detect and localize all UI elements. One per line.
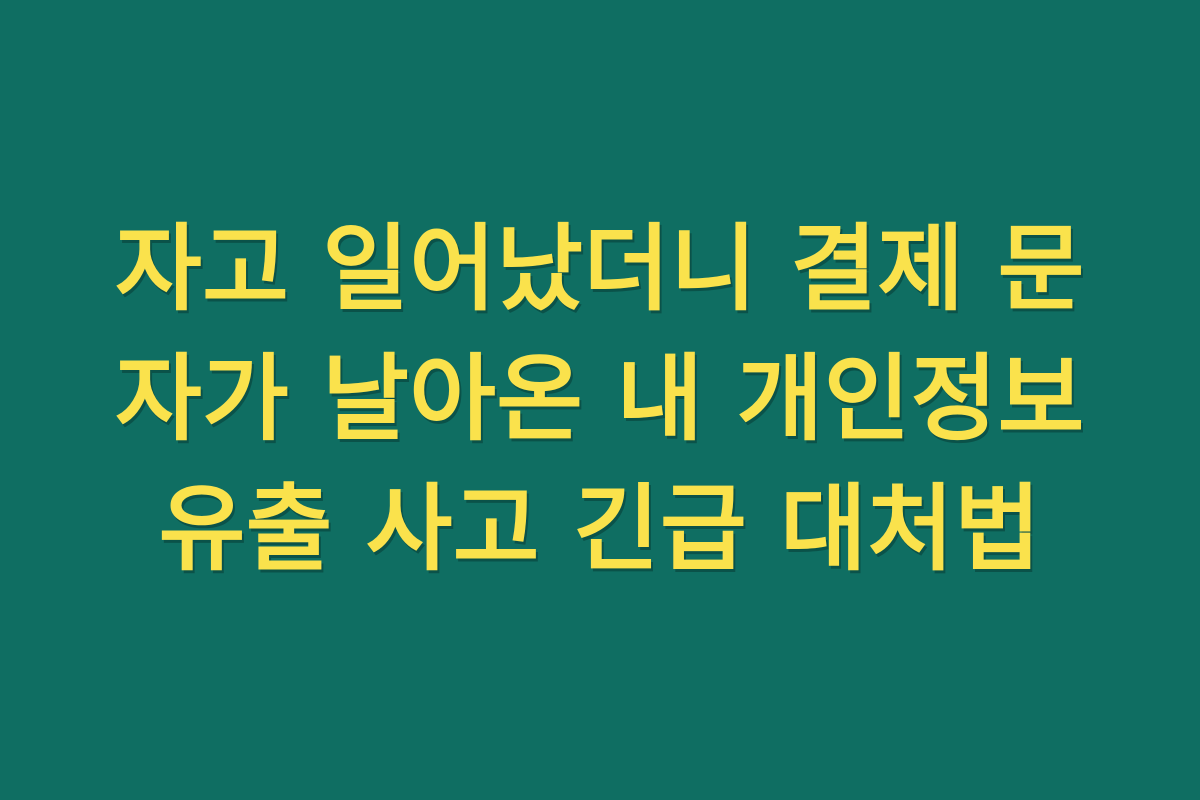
- headline-line-2: 자가 날아온 내 개인정보: [80, 335, 1120, 465]
- headline-line-3: 유출 사고 긴급 대처법: [80, 465, 1120, 595]
- text-card: 자고 일어났더니 결제 문 자가 날아온 내 개인정보 유출 사고 긴급 대처법: [0, 0, 1200, 800]
- headline: 자고 일어났더니 결제 문 자가 날아온 내 개인정보 유출 사고 긴급 대처법: [80, 205, 1120, 595]
- headline-line-1: 자고 일어났더니 결제 문: [80, 205, 1120, 335]
